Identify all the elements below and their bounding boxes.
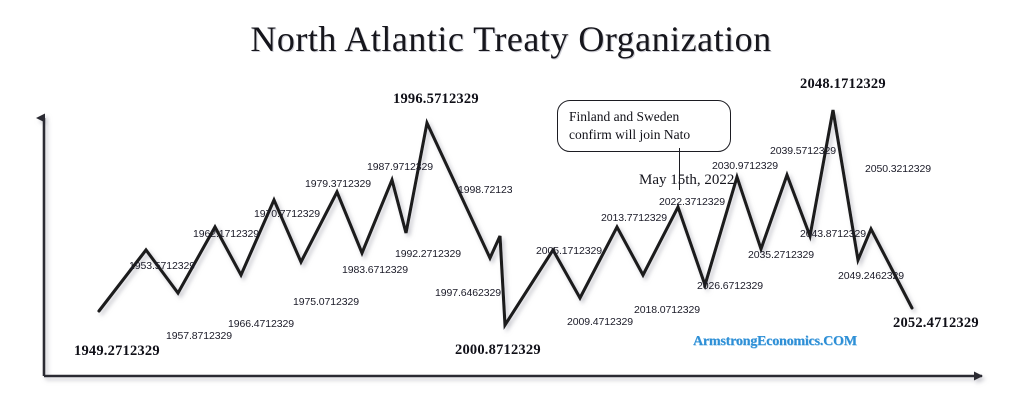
callout-line-2: confirm will join Nato [569,126,720,144]
cycle-line-series [99,110,912,325]
data-point-label: 2048.1712329 [800,76,886,93]
chart-canvas: North Atlantic Treaty Organization 1949.… [0,0,1022,411]
data-point-label: 1953.5712329 [129,260,195,272]
data-point-label: 2035.2712329 [748,249,814,261]
data-point-label: 1966.4712329 [228,318,294,330]
data-point-label: 1983.6712329 [342,264,408,276]
data-point-label: 1957.8712329 [166,330,232,342]
data-point-label: 1987.9712329 [367,161,433,173]
data-point-label: 2018.0712329 [634,304,700,316]
data-point-label: 1949.2712329 [74,343,160,360]
data-point-label: 2009.4712329 [567,316,633,328]
data-point-label: 1992.2712329 [395,248,461,260]
data-point-label: 2043.8712329 [800,228,866,240]
data-point-label: 2039.5712329 [770,145,836,157]
data-point-label: 2022.3712329 [659,196,725,208]
event-callout: Finland and Sweden confirm will join Nat… [557,100,731,152]
data-point-label: 2013.7712329 [601,212,667,224]
data-point-label: 2052.4712329 [893,315,979,332]
data-point-label: 2000.8712329 [455,342,541,359]
watermark: ArmstrongEconomics.COM [693,334,857,350]
data-point-label: 2049.2462329 [838,270,904,282]
data-point-label: 1998.72123 [458,184,512,196]
data-point-label: 1997.6462329 [435,287,501,299]
data-point-label: 1996.5712329 [393,91,479,108]
callout-line-1: Finland and Sweden [569,108,720,126]
data-point-label: 1970.7712329 [254,208,320,220]
data-point-label: 2005.1712329 [536,245,602,257]
data-point-label: 1962.1712329 [193,228,259,240]
data-point-label: 2050.3212329 [865,163,931,175]
data-point-label: 1975.0712329 [293,296,359,308]
data-point-label: 2030.9712329 [712,160,778,172]
data-point-label: 1979.3712329 [305,178,371,190]
data-point-label: 2026.6712329 [697,280,763,292]
event-date-label: May 15th, 2022 [639,172,734,189]
